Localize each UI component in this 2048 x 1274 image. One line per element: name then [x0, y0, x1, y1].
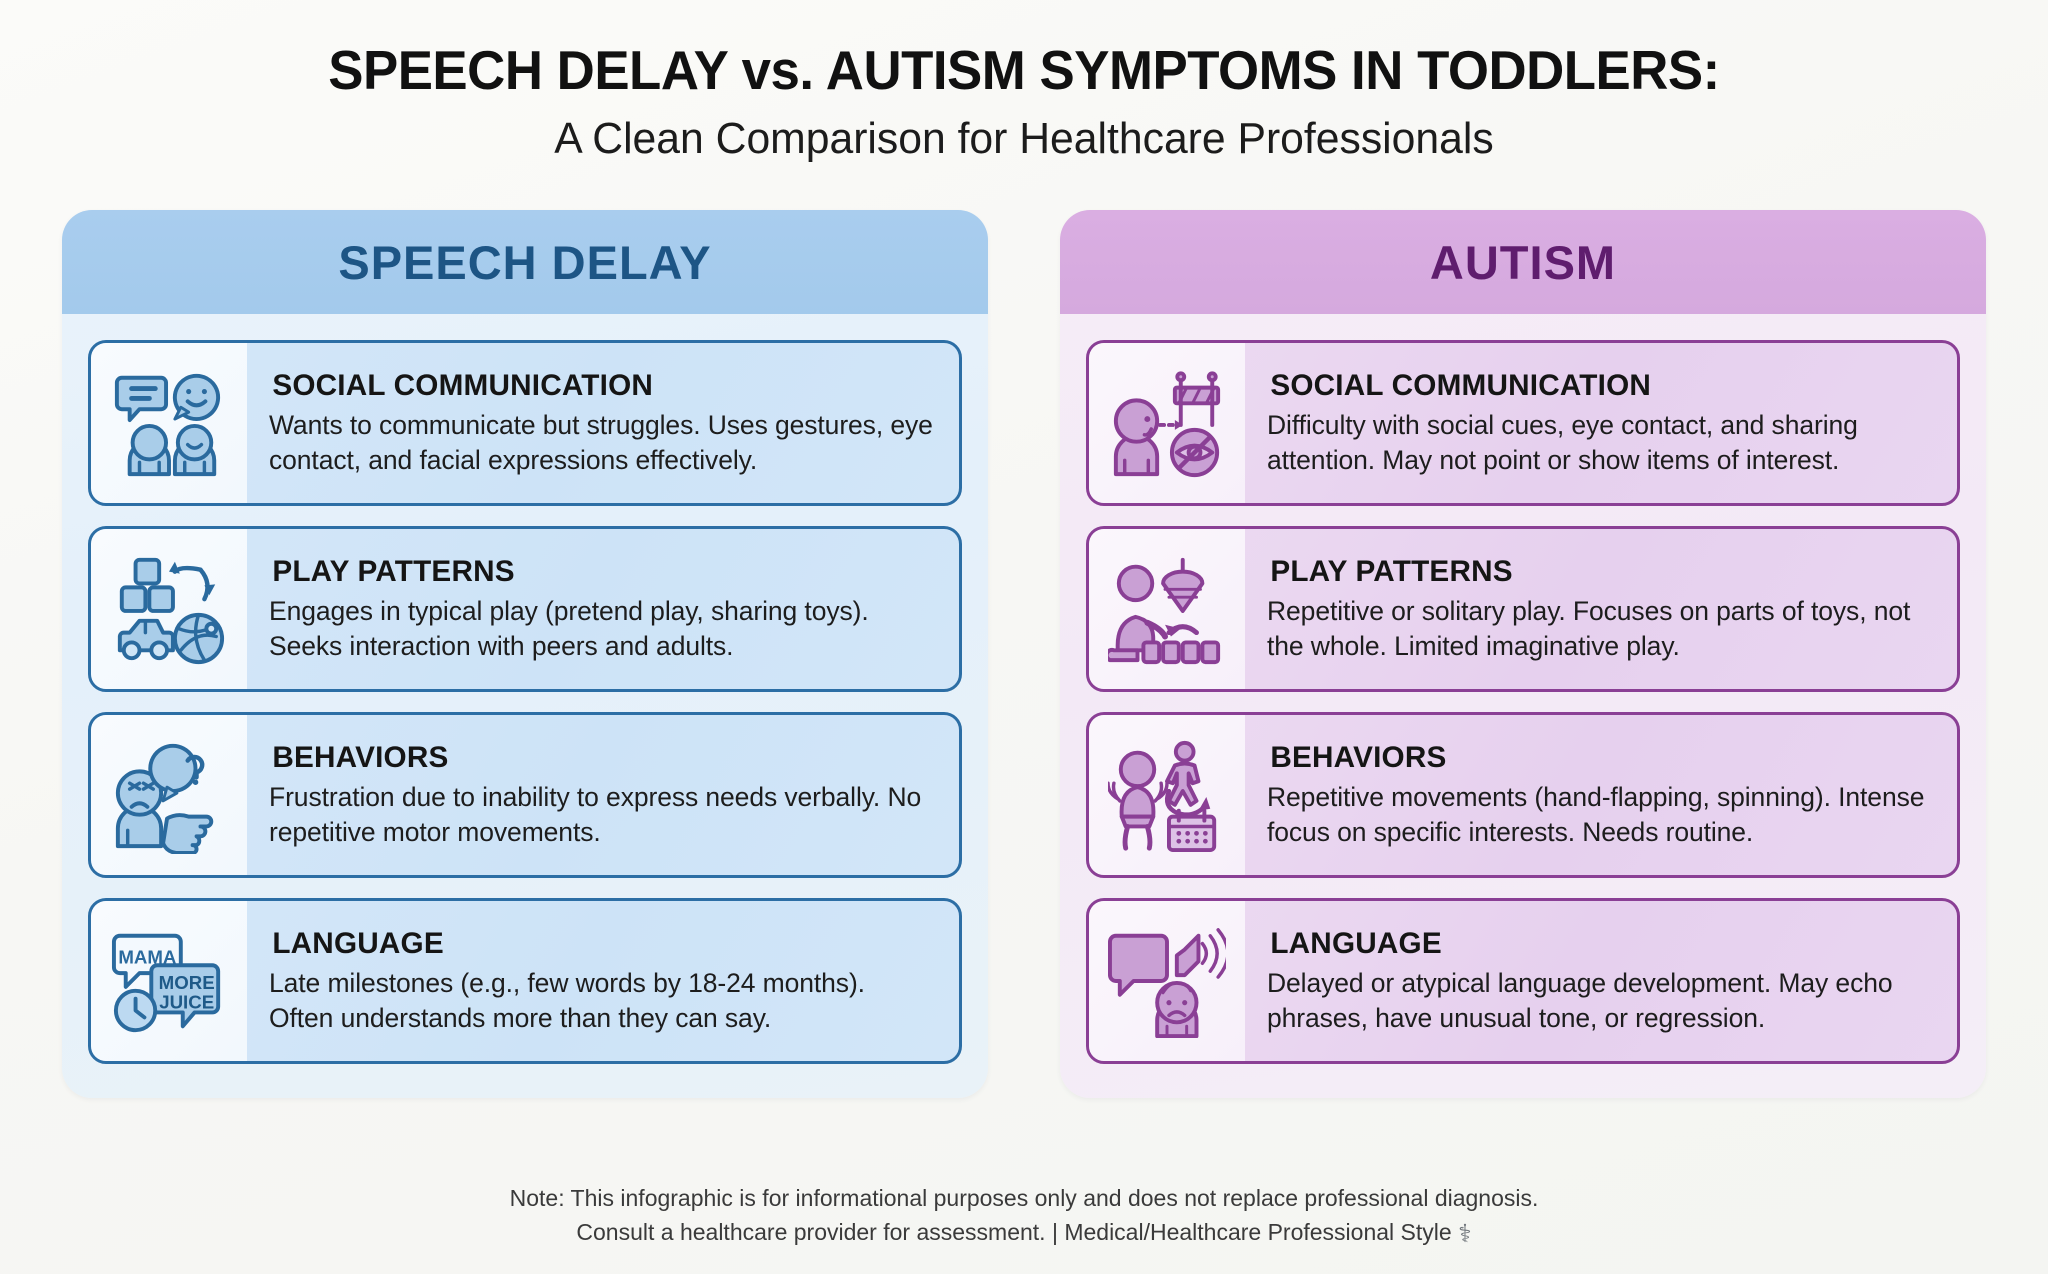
- two-people-speech-bubbles-icon: [91, 343, 247, 503]
- card-autism-behaviors[interactable]: BEHAVIORS Repetitive movements (hand-fla…: [1086, 712, 1960, 878]
- card-text: SOCIAL COMMUNICATION Difficulty with soc…: [1245, 343, 1957, 503]
- card-text: LANGUAGE Delayed or atypical language de…: [1245, 901, 1957, 1061]
- card-speech-social-communication[interactable]: SOCIAL COMMUNICATION Wants to communicat…: [88, 340, 962, 506]
- panel-heading-label: AUTISM: [1430, 235, 1616, 290]
- card-autism-social-communication[interactable]: SOCIAL COMMUNICATION Difficulty with soc…: [1086, 340, 1960, 506]
- panel-header-autism: AUTISM: [1060, 210, 1986, 314]
- panel-body-autism: SOCIAL COMMUNICATION Difficulty with soc…: [1060, 314, 1986, 1098]
- icon-label-more: MORE: [159, 972, 215, 993]
- card-text: PLAY PATTERNS Repetitive or solitary pla…: [1245, 529, 1957, 689]
- card-speech-language[interactable]: MAMA MORE JUICE LANGUAGE Late milestones…: [88, 898, 962, 1064]
- card-title: SOCIAL COMMUNICATION: [1270, 369, 1927, 403]
- blocks-car-ball-exchange-icon: [91, 529, 247, 689]
- footer-line-2-wrap: Consult a healthcare provider for assess…: [0, 1216, 2048, 1252]
- caduceus-icon: ⚕: [1458, 1220, 1472, 1248]
- card-description: Wants to communicate but struggles. Uses…: [269, 408, 933, 477]
- panel-heading-label: SPEECH DELAY: [338, 235, 711, 290]
- card-description: Engages in typical play (pretend play, s…: [269, 594, 933, 663]
- mama-more-juice-speech-clock-icon: MAMA MORE JUICE: [91, 901, 247, 1061]
- card-description: Frustration due to inability to express …: [269, 780, 933, 849]
- panel-speech-delay: SPEECH DELAY: [62, 210, 988, 1098]
- panel-autism: AUTISM: [1060, 210, 1986, 1098]
- panel-header-speech-delay: SPEECH DELAY: [62, 210, 988, 314]
- card-description: Late milestones (e.g., few words by 18-2…: [269, 966, 933, 1035]
- card-title: SOCIAL COMMUNICATION: [272, 369, 929, 403]
- card-autism-play-patterns[interactable]: PLAY PATTERNS Repetitive or solitary pla…: [1086, 526, 1960, 692]
- card-title: PLAY PATTERNS: [272, 555, 929, 589]
- footer-line-1: Note: This infographic is for informatio…: [0, 1182, 2048, 1215]
- person-barrier-no-eye-contact-icon: [1089, 343, 1245, 503]
- card-title: BEHAVIORS: [272, 741, 929, 775]
- hand-flapping-spinning-calendar-icon: [1089, 715, 1245, 875]
- card-speech-play-patterns[interactable]: PLAY PATTERNS Engages in typical play (p…: [88, 526, 962, 692]
- footer-line-2: Consult a healthcare provider for assess…: [576, 1219, 1451, 1245]
- card-title: LANGUAGE: [1270, 927, 1927, 961]
- card-text: LANGUAGE Late milestones (e.g., few word…: [247, 901, 959, 1061]
- card-text: BEHAVIORS Frustration due to inability t…: [247, 715, 959, 875]
- comparison-columns: SPEECH DELAY: [0, 210, 2048, 1098]
- icon-label-juice: JUICE: [159, 992, 214, 1013]
- card-title: BEHAVIORS: [1270, 741, 1927, 775]
- speech-bubble-speaker-sad-child-icon: [1089, 901, 1245, 1061]
- card-text: BEHAVIORS Repetitive movements (hand-fla…: [1245, 715, 1957, 875]
- card-description: Repetitive or solitary play. Focuses on …: [1267, 594, 1931, 663]
- title-block: SPEECH DELAY vs. AUTISM SYMPTOMS IN TODD…: [0, 0, 2048, 164]
- card-title: PLAY PATTERNS: [1270, 555, 1927, 589]
- panel-body-speech-delay: SOCIAL COMMUNICATION Wants to communicat…: [62, 314, 988, 1098]
- card-speech-behaviors[interactable]: BEHAVIORS Frustration due to inability t…: [88, 712, 962, 878]
- card-text: SOCIAL COMMUNICATION Wants to communicat…: [247, 343, 959, 503]
- page-subtitle: A Clean Comparison for Healthcare Profes…: [31, 114, 2018, 164]
- card-description: Difficulty with social cues, eye contact…: [1267, 408, 1931, 477]
- card-autism-language[interactable]: LANGUAGE Delayed or atypical language de…: [1086, 898, 1960, 1064]
- page-title: SPEECH DELAY vs. AUTISM SYMPTOMS IN TODD…: [41, 38, 2007, 102]
- footer-disclaimer: Note: This infographic is for informatio…: [0, 1182, 2048, 1252]
- card-description: Repetitive movements (hand-flapping, spi…: [1267, 780, 1931, 849]
- child-spinning-top-lined-blocks-icon: [1089, 529, 1245, 689]
- frustrated-child-question-pointing-icon: [91, 715, 247, 875]
- card-title: LANGUAGE: [272, 927, 929, 961]
- card-description: Delayed or atypical language development…: [1267, 966, 1931, 1035]
- card-text: PLAY PATTERNS Engages in typical play (p…: [247, 529, 959, 689]
